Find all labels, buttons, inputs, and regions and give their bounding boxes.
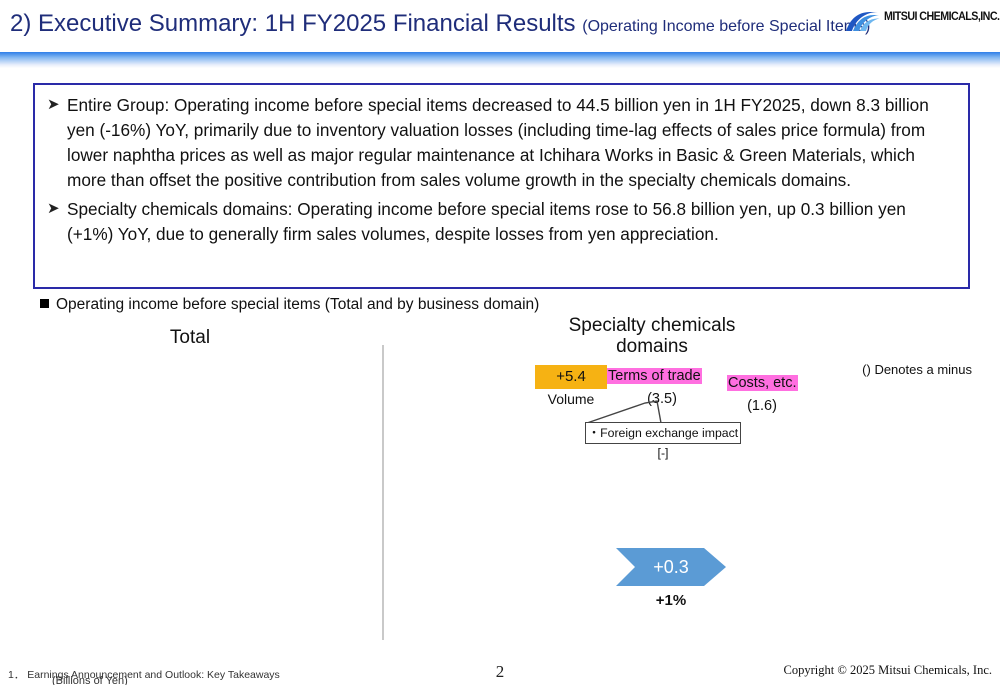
bullet-arrow-icon: ➤: [47, 93, 67, 116]
copyright-notice: Copyright © 2025 Mitsui Chemicals, Inc.: [784, 663, 992, 678]
section-heading: Operating income before special items (T…: [40, 296, 539, 314]
header-accent-bar: [0, 52, 1000, 68]
page-title: 2) Executive Summary: 1H FY2025 Financia…: [10, 10, 870, 38]
section-heading-label: Operating income before special items (T…: [56, 296, 539, 313]
summary-bullet-text: Entire Group: Operating income before sp…: [67, 93, 954, 193]
square-bullet-icon: [40, 299, 49, 308]
mitsui-swoosh-icon: [844, 10, 880, 34]
bullet-arrow-icon: ➤: [47, 197, 67, 220]
slide-header: 2) Executive Summary: 1H FY2025 Financia…: [0, 6, 1000, 48]
minus-denotation-note: () Denotes a minus: [862, 362, 972, 377]
page-title-main: 2) Executive Summary: 1H FY2025 Financia…: [10, 10, 576, 37]
bridge-volume-value: +5.4: [556, 368, 586, 385]
chart-total: Total (Billions of Yen) (8.3) -16% 52.8 …: [0, 315, 380, 675]
fx-impact-callout: ・Foreign exchange impact [-]: [585, 422, 741, 444]
chart-specialty: Specialty chemicals domains () Denotes a…: [382, 315, 1000, 675]
summary-bullet-text: Specialty chemicals domains: Operating i…: [67, 197, 954, 247]
chart-total-title: Total: [0, 327, 380, 349]
company-logo: MITSUI CHEMICALS,INC.: [844, 8, 996, 38]
page-title-subtitle: (Operating Income before Special Items): [582, 18, 870, 35]
net-change-percent: +1%: [616, 592, 726, 609]
bridge-chip-volume: +5.4: [535, 365, 607, 389]
bridge-label-terms-of-trade: Terms of trade: [607, 368, 702, 384]
chart-specialty-title: Specialty chemicals domains: [522, 315, 782, 358]
executive-summary-box: ➤ Entire Group: Operating income before …: [33, 83, 970, 289]
logo-wordmark: MITSUI CHEMICALS,INC.: [884, 11, 999, 23]
chart-specialty-title-line2: domains: [522, 336, 782, 357]
slide-canvas: 2) Executive Summary: 1H FY2025 Financia…: [0, 0, 1000, 685]
bridge-label-costs: Costs, etc.: [727, 375, 798, 391]
summary-bullet-entire-group: ➤ Entire Group: Operating income before …: [47, 93, 954, 193]
chart-specialty-title-line1: Specialty chemicals: [522, 315, 782, 336]
net-change-chevron: +0.3: [616, 548, 726, 586]
summary-bullet-specialty: ➤ Specialty chemicals domains: Operating…: [47, 197, 954, 247]
net-change-value: +0.3: [616, 548, 726, 586]
